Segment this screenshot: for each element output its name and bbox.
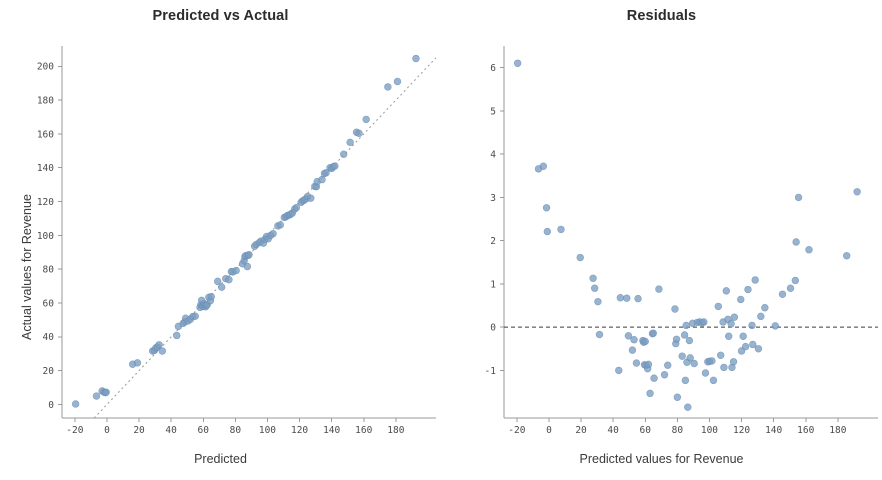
data-point bbox=[591, 285, 598, 292]
data-point bbox=[779, 291, 786, 298]
data-point bbox=[672, 306, 679, 313]
data-point bbox=[673, 336, 680, 343]
x-tick-label: 0 bbox=[546, 425, 552, 436]
data-point bbox=[623, 295, 630, 302]
panel-residuals: Residuals -10123456-20020406080100120140… bbox=[441, 0, 882, 480]
data-point bbox=[723, 287, 730, 294]
data-point bbox=[543, 204, 550, 211]
data-point bbox=[244, 263, 251, 270]
data-point bbox=[737, 296, 744, 303]
x-tick-label: 80 bbox=[672, 425, 684, 436]
data-point bbox=[214, 278, 221, 285]
data-point bbox=[725, 333, 732, 340]
data-point bbox=[103, 389, 110, 396]
data-point bbox=[715, 303, 722, 310]
data-point bbox=[679, 353, 686, 360]
data-point bbox=[651, 375, 658, 382]
y-tick-label: 60 bbox=[43, 298, 55, 309]
x-tick-label: 60 bbox=[640, 425, 652, 436]
y-tick-label: 2 bbox=[490, 236, 496, 247]
data-point bbox=[684, 404, 691, 411]
data-point bbox=[233, 267, 240, 274]
x-tick-label: 40 bbox=[607, 425, 619, 436]
data-point bbox=[173, 332, 180, 339]
x-tick-label: 120 bbox=[733, 425, 750, 436]
data-point bbox=[772, 322, 779, 329]
y-tick-label: 120 bbox=[37, 197, 54, 208]
data-point bbox=[674, 394, 681, 401]
x-tick-label: 140 bbox=[323, 425, 340, 436]
data-point bbox=[755, 345, 762, 352]
y-tick-label: 4 bbox=[490, 150, 496, 161]
data-point bbox=[218, 284, 225, 291]
data-point bbox=[635, 295, 642, 302]
data-point bbox=[752, 277, 759, 284]
data-point bbox=[642, 338, 649, 345]
data-point bbox=[293, 204, 300, 211]
x-tick-label: 160 bbox=[355, 425, 372, 436]
left-x-axis-label: Predicted bbox=[0, 452, 441, 466]
data-point bbox=[708, 358, 715, 365]
y-tick-label: -1 bbox=[485, 366, 497, 377]
figure-root: Predicted vs Actual 02040608010012014016… bbox=[0, 0, 882, 480]
x-tick-label: 0 bbox=[104, 425, 110, 436]
scatter-series bbox=[72, 55, 419, 407]
data-point bbox=[647, 390, 654, 397]
y-tick-label: 160 bbox=[37, 129, 54, 140]
data-point bbox=[226, 276, 233, 283]
y-tick-label: 0 bbox=[48, 400, 54, 411]
data-point bbox=[156, 341, 163, 348]
data-point bbox=[731, 314, 738, 321]
data-point bbox=[577, 254, 584, 261]
data-point bbox=[683, 322, 690, 329]
data-point bbox=[159, 348, 166, 355]
data-point bbox=[633, 360, 640, 367]
x-tick-label: 120 bbox=[291, 425, 308, 436]
data-point bbox=[246, 251, 253, 258]
data-point bbox=[681, 332, 688, 339]
data-point bbox=[742, 343, 749, 350]
data-point bbox=[413, 55, 420, 62]
data-point bbox=[208, 293, 215, 300]
data-point bbox=[650, 330, 657, 337]
data-point bbox=[93, 393, 100, 400]
data-point bbox=[617, 294, 624, 301]
data-point bbox=[331, 163, 338, 170]
y-tick-label: 20 bbox=[43, 366, 55, 377]
data-point bbox=[590, 275, 597, 282]
y-tick-label: 40 bbox=[43, 332, 55, 343]
data-point bbox=[319, 176, 326, 183]
data-point bbox=[787, 285, 794, 292]
data-point bbox=[843, 252, 850, 259]
y-tick-label: 1 bbox=[490, 279, 496, 290]
data-point bbox=[745, 286, 752, 293]
x-tick-label: 80 bbox=[230, 425, 242, 436]
left-y-axis-label: Actual values for Revenue bbox=[20, 194, 34, 340]
data-point bbox=[710, 377, 717, 384]
data-point bbox=[795, 194, 802, 201]
right-scatter-plot: -10123456-20020406080100120140160180 bbox=[441, 0, 882, 480]
data-point bbox=[629, 347, 636, 354]
scatter-series bbox=[514, 60, 860, 411]
y-tick-label: 3 bbox=[490, 193, 496, 204]
data-point bbox=[749, 341, 756, 348]
x-tick-label: 180 bbox=[829, 425, 846, 436]
data-point bbox=[558, 226, 565, 233]
data-point bbox=[595, 298, 602, 305]
data-point bbox=[730, 358, 737, 365]
left-scatter-plot: 020406080100120140160180200-200204060801… bbox=[0, 0, 441, 480]
data-point bbox=[307, 195, 314, 202]
data-point bbox=[540, 163, 547, 170]
data-point bbox=[394, 78, 401, 85]
y-tick-label: 5 bbox=[490, 106, 496, 117]
y-tick-label: 200 bbox=[37, 62, 54, 73]
x-tick-label: -20 bbox=[66, 425, 83, 436]
data-point bbox=[631, 336, 638, 343]
data-point bbox=[691, 360, 698, 367]
y-tick-label: 6 bbox=[490, 63, 496, 74]
data-point bbox=[384, 84, 391, 91]
data-point bbox=[792, 277, 799, 284]
data-point bbox=[356, 130, 363, 137]
data-point bbox=[700, 319, 707, 326]
x-tick-label: 140 bbox=[765, 425, 782, 436]
data-point bbox=[806, 246, 813, 253]
data-point bbox=[514, 60, 521, 67]
x-tick-label: 100 bbox=[701, 425, 718, 436]
x-tick-label: 180 bbox=[387, 425, 404, 436]
y-tick-label: 100 bbox=[37, 231, 54, 242]
data-point bbox=[347, 139, 354, 146]
y-tick-label: 140 bbox=[37, 163, 54, 174]
data-point bbox=[277, 222, 284, 229]
data-point bbox=[656, 286, 663, 293]
right-x-axis-label: Predicted values for Revenue bbox=[441, 452, 882, 466]
data-point bbox=[757, 313, 764, 320]
x-tick-label: 40 bbox=[165, 425, 177, 436]
data-point bbox=[749, 322, 756, 329]
x-tick-label: 60 bbox=[198, 425, 210, 436]
data-point bbox=[192, 313, 199, 320]
y-tick-label: 80 bbox=[43, 265, 55, 276]
data-point bbox=[728, 320, 735, 327]
data-point bbox=[615, 367, 622, 374]
data-point bbox=[664, 362, 671, 369]
data-point bbox=[854, 188, 861, 195]
x-tick-label: 100 bbox=[259, 425, 276, 436]
data-point bbox=[363, 116, 370, 123]
x-tick-label: 160 bbox=[797, 425, 814, 436]
data-point bbox=[134, 359, 141, 366]
data-point bbox=[596, 331, 603, 338]
data-point bbox=[270, 230, 277, 237]
data-point bbox=[645, 361, 652, 368]
data-point bbox=[661, 371, 668, 378]
y-tick-label: 180 bbox=[37, 96, 54, 107]
data-point bbox=[702, 370, 709, 377]
data-point bbox=[761, 304, 768, 311]
data-point bbox=[682, 377, 689, 384]
data-point bbox=[686, 337, 693, 344]
data-point bbox=[72, 401, 79, 408]
y-tick-label: 0 bbox=[490, 323, 496, 334]
x-tick-label: 20 bbox=[133, 425, 145, 436]
data-point bbox=[793, 239, 800, 246]
panel-predicted-vs-actual: Predicted vs Actual 02040608010012014016… bbox=[0, 0, 441, 480]
data-point bbox=[340, 151, 347, 158]
data-point bbox=[721, 364, 728, 371]
x-tick-label: -20 bbox=[508, 425, 525, 436]
data-point bbox=[740, 333, 747, 340]
data-point bbox=[544, 228, 551, 235]
x-tick-label: 20 bbox=[575, 425, 587, 436]
data-point bbox=[717, 352, 724, 359]
